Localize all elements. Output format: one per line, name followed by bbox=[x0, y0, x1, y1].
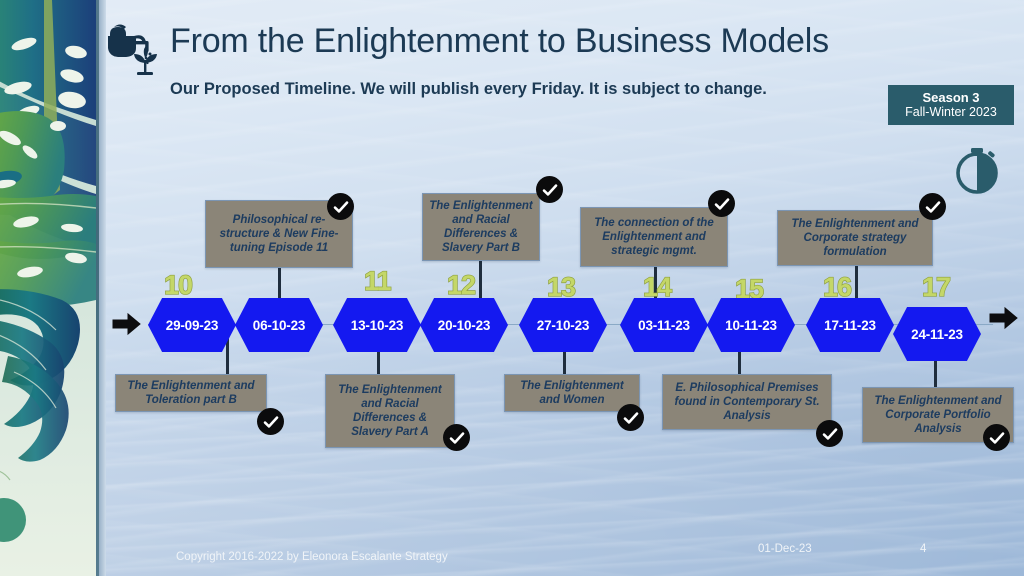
footer-date: 01-Dec-23 bbox=[758, 543, 812, 555]
milestone-date-hexagon[interactable]: 20-10-23 bbox=[420, 298, 508, 352]
milestone-date-hexagon[interactable]: 06-10-23 bbox=[235, 298, 323, 352]
decorative-monstera-sidebar bbox=[0, 0, 96, 576]
milestone-callout[interactable]: The Enlightenment and Corporate strategy… bbox=[777, 210, 933, 266]
milestone-date-label: 29-09-23 bbox=[166, 318, 218, 333]
milestone-connector bbox=[278, 268, 281, 300]
milestone-date-label: 03-11-23 bbox=[638, 318, 690, 333]
milestone-week-number: 17 bbox=[922, 272, 950, 303]
milestone-date-label: 06-10-23 bbox=[253, 318, 305, 333]
season-badge-line1: Season 3 bbox=[922, 91, 979, 106]
milestone-date-label: 17-11-23 bbox=[824, 318, 876, 333]
milestone-callout-label: E. Philosophical Premises found in Conte… bbox=[668, 381, 826, 424]
milestone-done-check-icon bbox=[983, 424, 1010, 451]
milestone-date-label: 24-11-23 bbox=[911, 327, 963, 342]
milestone-done-check-icon bbox=[327, 193, 354, 220]
milestone-callout-label: The Enlightenment and Women bbox=[510, 379, 634, 408]
milestone-callout[interactable]: The Enlightenment and Toleration part B bbox=[115, 374, 267, 412]
monstera-leaf-illustration bbox=[0, 0, 96, 576]
season-badge-line2: Fall-Winter 2023 bbox=[905, 105, 997, 119]
footer-page-number: 4 bbox=[920, 543, 926, 555]
milestone-date-label: 13-10-23 bbox=[351, 318, 403, 333]
arrow-right-icon bbox=[112, 311, 142, 337]
milestone-callout-label: The Enlightenment and Racial Differences… bbox=[331, 383, 449, 440]
milestone-week-number: 11 bbox=[364, 266, 391, 297]
milestone-date-hexagon[interactable]: 03-11-23 bbox=[620, 298, 708, 352]
milestone-week-number: 12 bbox=[447, 270, 475, 301]
milestone-done-check-icon bbox=[617, 404, 644, 431]
milestone-callout[interactable]: The Enlightenment and Racial Differences… bbox=[325, 374, 455, 448]
milestone-date-hexagon[interactable]: 10-11-23 bbox=[707, 298, 795, 352]
milestone-done-check-icon bbox=[257, 408, 284, 435]
copyright-text: Copyright 2016-2022 by Eleonora Escalant… bbox=[176, 551, 448, 563]
milestone-done-check-icon bbox=[536, 176, 563, 203]
page-title: From the Enlightenment to Business Model… bbox=[170, 22, 829, 61]
milestone-date-hexagon[interactable]: 29-09-23 bbox=[148, 298, 236, 352]
milestone-done-check-icon bbox=[708, 190, 735, 217]
milestone-date-hexagon[interactable]: 27-10-23 bbox=[519, 298, 607, 352]
arrow-right-icon bbox=[989, 305, 1019, 331]
milestone-done-check-icon bbox=[443, 424, 470, 451]
milestone-date-label: 10-11-23 bbox=[725, 318, 777, 333]
milestone-callout-label: The Enlightenment and Toleration part B bbox=[121, 379, 261, 408]
milestone-done-check-icon bbox=[816, 420, 843, 447]
milestone-date-label: 20-10-23 bbox=[438, 318, 490, 333]
milestone-callout-label: Philosophical re-structure & New Fine-tu… bbox=[211, 213, 347, 256]
sidebar-divider-accent bbox=[96, 0, 99, 576]
milestone-date-hexagon[interactable]: 17-11-23 bbox=[806, 298, 894, 352]
milestone-date-hexagon[interactable]: 13-10-23 bbox=[333, 298, 421, 352]
page-subtitle: Our Proposed Timeline. We will publish e… bbox=[170, 80, 767, 99]
milestone-date-label: 27-10-23 bbox=[537, 318, 589, 333]
season-badge: Season 3 Fall-Winter 2023 bbox=[888, 85, 1014, 125]
milestone-callout-label: The Enlightenment and Corporate strategy… bbox=[783, 217, 927, 260]
milestone-callout[interactable]: E. Philosophical Premises found in Conte… bbox=[662, 374, 832, 430]
milestone-callout[interactable]: The connection of the Enlightenment and … bbox=[580, 207, 728, 267]
milestone-callout-label: The connection of the Enlightenment and … bbox=[586, 216, 722, 259]
milestone-week-number: 10 bbox=[164, 270, 192, 301]
watering-can-plant-icon bbox=[104, 16, 166, 78]
milestone-callout[interactable]: The Enlightenment and Women bbox=[504, 374, 640, 412]
milestone-connector bbox=[479, 261, 482, 299]
milestone-date-hexagon[interactable]: 24-11-23 bbox=[893, 307, 981, 361]
milestone-connector bbox=[226, 338, 229, 374]
milestone-callout-label: The Enlightenment and Racial Differences… bbox=[428, 199, 534, 256]
milestone-connector bbox=[855, 266, 858, 299]
slide-canvas: From the Enlightenment to Business Model… bbox=[0, 0, 1024, 576]
stopwatch-icon bbox=[948, 138, 1006, 196]
milestone-callout[interactable]: The Enlightenment and Racial Differences… bbox=[422, 193, 540, 261]
milestone-done-check-icon bbox=[919, 193, 946, 220]
